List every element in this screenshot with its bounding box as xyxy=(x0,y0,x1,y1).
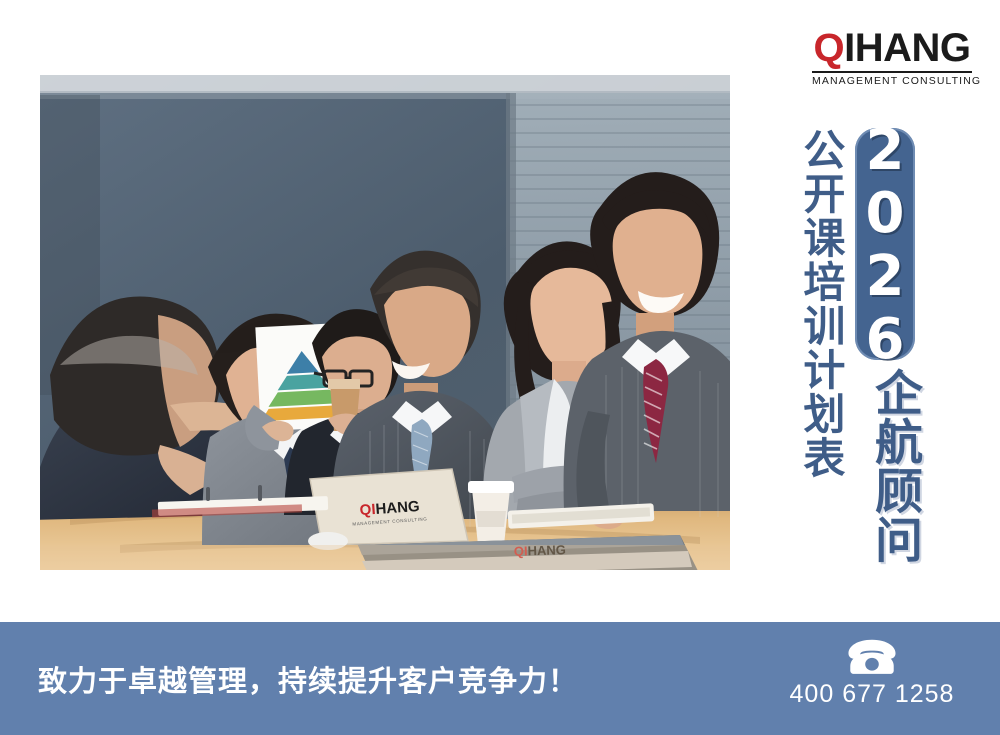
year-text: 2026 xyxy=(855,128,915,360)
year-badge: 2026 xyxy=(855,128,915,360)
logo-divider xyxy=(812,71,972,73)
title-left-column: 公开课培训计划表 xyxy=(799,128,842,480)
poster-title-block: 公开课培训计划表 2026 企航顾问 xyxy=(795,128,935,568)
logo-letter-q: Q xyxy=(813,26,844,70)
logo-subtitle: MANAGEMENT CONSULTING xyxy=(812,75,972,87)
footer-band: 致力于卓越管理，持续提升客户竞争力！ 400 677 1258 xyxy=(0,622,1000,735)
brand-name-cn: 企航顾问 xyxy=(855,368,917,564)
logo-letters-rest: IHANG xyxy=(844,26,970,70)
laptop-qihang: QIHANG MANAGEMENT CONSULTING xyxy=(308,469,468,550)
company-logo: QIHANG MANAGEMENT CONSULTING xyxy=(812,28,972,87)
telephone-icon xyxy=(843,638,901,676)
logo-wordmark: QIHANG xyxy=(812,28,972,68)
hero-photo: QIHANG MANAGEMENT CONSULTING xyxy=(40,75,730,570)
poster-root: QIHANG MANAGEMENT CONSULTING xyxy=(0,0,1000,735)
phone-number: 400 677 1258 xyxy=(772,680,972,709)
contact-block: 400 677 1258 xyxy=(772,638,972,709)
tagline-text: 致力于卓越管理，持续提升客户竞争力！ xyxy=(38,658,578,700)
hero-photo-illustration: QIHANG MANAGEMENT CONSULTING xyxy=(40,75,730,570)
